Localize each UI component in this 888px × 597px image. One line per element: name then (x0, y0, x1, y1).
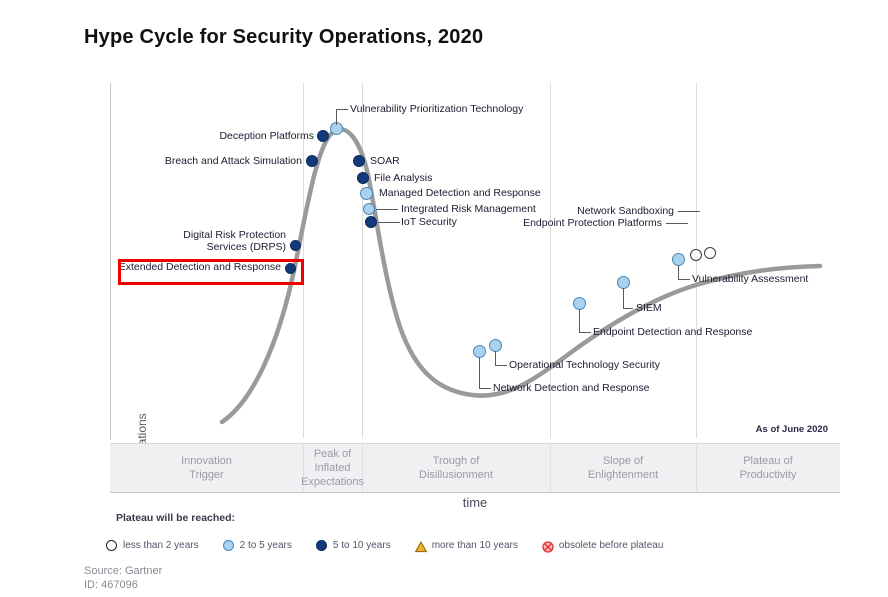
legend-item-obsolete-before-plateau[interactable]: obsolete before plateau (542, 540, 664, 551)
legend-item-2-to-5-years[interactable]: 2 to 5 years (223, 540, 292, 551)
phase-peak-line3: Expectations (301, 475, 364, 489)
navy-circle-icon (316, 540, 327, 551)
leader-endpoint-protection-platforms (666, 223, 688, 224)
leader-integrated-risk-management (376, 209, 398, 210)
label-breach-and-attack-simulation: Breach and Attack Simulation (132, 155, 302, 167)
label-deception-platforms: Deception Platforms (188, 130, 314, 142)
dot-digital-risk-protection-services[interactable] (290, 240, 301, 251)
label-integrated-risk-management: Integrated Risk Management (401, 203, 536, 215)
source-credit: Source: Gartner ID: 467096 (84, 564, 162, 592)
leader-operational-technology-security-v (495, 351, 496, 366)
phase-peak-line2: Inflated (314, 461, 350, 475)
legend-title: Plateau will be reached: (116, 512, 235, 524)
leader-network-detection-and-response-h (479, 388, 491, 389)
legend: less than 2 years 2 to 5 years 5 to 10 y… (106, 535, 687, 555)
label-endpoint-detection-and-response: Endpoint Detection and Response (593, 326, 752, 338)
label-vulnerability-prioritization-technology: Vulnerability Prioritization Technology (350, 103, 523, 115)
highlight-box-extended-detection-and-response (118, 259, 304, 285)
phase-plateau-line1: Plateau of (743, 454, 793, 468)
source-line1: Source: Gartner (84, 564, 162, 578)
source-line2: ID: 467096 (84, 578, 162, 592)
label-managed-detection-and-response: Managed Detection and Response (379, 187, 541, 199)
red-crossed-circle-icon (542, 540, 553, 551)
label-endpoint-protection-platforms: Endpoint Protection Platforms (490, 217, 662, 229)
dot-managed-detection-and-response[interactable] (360, 187, 373, 200)
phase-plateau-line2: Productivity (740, 468, 797, 482)
leader-endpoint-detection-and-response-v (579, 309, 580, 333)
lightblue-circle-icon (223, 540, 234, 551)
phase-trough-line1: Trough of (433, 454, 480, 468)
label-network-detection-and-response: Network Detection and Response (493, 382, 649, 394)
y-axis-label-wrap: expectations (78, 230, 94, 350)
dot-iot-security[interactable] (365, 216, 377, 228)
phase-slope-of-enlightenment: Slope of Enlightenment (550, 444, 696, 492)
phase-plateau-of-productivity: Plateau of Productivity (696, 444, 840, 492)
label-network-sandboxing: Network Sandboxing (540, 205, 674, 217)
phase-slope-line2: Enlightenment (588, 468, 658, 482)
dot-file-analysis[interactable] (357, 172, 369, 184)
leader-network-sandboxing (678, 211, 700, 212)
label-iot-security: IoT Security (401, 216, 457, 228)
leader-vulnerability-prioritization-technology-h (336, 109, 348, 110)
label-file-analysis: File Analysis (374, 172, 432, 184)
dot-deception-platforms[interactable] (317, 130, 329, 142)
as-of-date: As of June 2020 (756, 424, 828, 435)
legend-label-less-than-2-years: less than 2 years (123, 540, 199, 551)
phase-peak-of-inflated-expectations: Peak of Inflated Expectations (303, 444, 362, 492)
phase-trough-of-disillusionment: Trough of Disillusionment (362, 444, 550, 492)
leader-siem-h (623, 308, 633, 309)
hollow-circle-icon (106, 540, 117, 551)
leader-vulnerability-prioritization-technology (336, 109, 337, 125)
label-soar: SOAR (370, 155, 400, 167)
label-operational-technology-security: Operational Technology Security (509, 359, 660, 371)
dot-soar[interactable] (353, 155, 365, 167)
phase-peak-line1: Peak of (314, 447, 351, 461)
phase-innovation-trigger-line2: Trigger (189, 468, 223, 482)
dot-vulnerability-assessment[interactable] (704, 247, 716, 259)
legend-label-2-to-5-years: 2 to 5 years (240, 540, 292, 551)
label-vulnerability-assessment: Vulnerability Assessment (692, 273, 808, 285)
legend-label-obsolete-before-plateau: obsolete before plateau (559, 540, 664, 551)
label-siem: SIEM (636, 302, 662, 314)
label-digital-risk-protection-line2: Services (DRPS) (120, 241, 286, 253)
dot-network-sandboxing[interactable] (690, 249, 702, 261)
legend-item-more-than-10-years[interactable]: more than 10 years (415, 540, 518, 551)
page-title: Hype Cycle for Security Operations, 2020 (84, 26, 483, 49)
leader-siem-v (623, 288, 624, 309)
leader-iot-security (378, 222, 400, 223)
dot-breach-and-attack-simulation[interactable] (306, 155, 318, 167)
legend-label-5-to-10-years: 5 to 10 years (333, 540, 391, 551)
leader-operational-technology-security-h (495, 365, 507, 366)
leader-network-detection-and-response-v (479, 357, 480, 389)
phase-slope-line1: Slope of (603, 454, 643, 468)
leader-vulnerability-assessment-v (678, 265, 679, 280)
legend-label-more-than-10-years: more than 10 years (432, 540, 518, 551)
leader-endpoint-detection-and-response-h (579, 332, 591, 333)
leader-vulnerability-assessment-h (678, 279, 690, 280)
orange-triangle-icon (415, 540, 426, 551)
x-axis-label: time (110, 495, 840, 510)
phase-band: Innovation Trigger Peak of Inflated Expe… (110, 443, 840, 493)
phase-innovation-trigger: Innovation Trigger (110, 444, 303, 492)
label-digital-risk-protection-line1: Digital Risk Protection (120, 229, 286, 241)
phase-innovation-trigger-line1: Innovation (181, 454, 232, 468)
legend-item-less-than-2-years[interactable]: less than 2 years (106, 540, 199, 551)
phase-trough-line2: Disillusionment (419, 468, 493, 482)
dot-integrated-risk-management[interactable] (363, 203, 375, 215)
legend-item-5-to-10-years[interactable]: 5 to 10 years (316, 540, 391, 551)
